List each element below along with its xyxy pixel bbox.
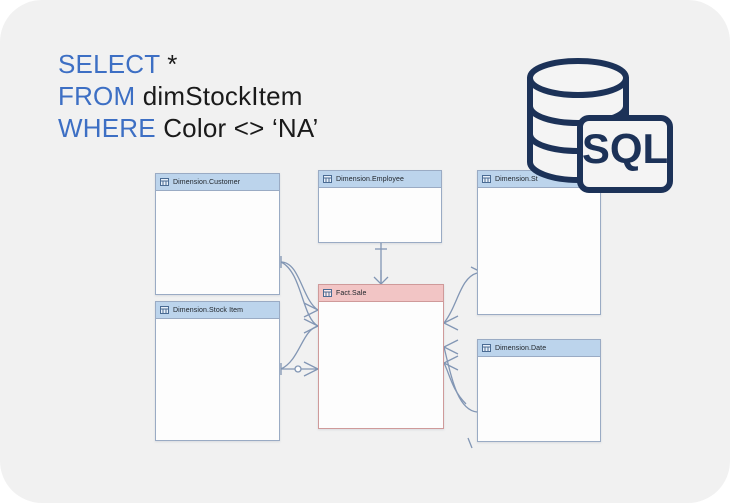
table-grid-icon [160, 178, 169, 186]
erd-table-dimension-date[interactable]: Dimension.Date [477, 339, 601, 442]
erd-table-dimension-customer[interactable]: Dimension.Customer [155, 173, 280, 295]
table-name: Fact.Sale [336, 290, 366, 297]
table-name: Dimension.Stock Item [173, 307, 243, 314]
table-header: Dimension.Stock Item [156, 302, 279, 319]
table-header: Dimension.Date [478, 340, 600, 357]
erd-table-dimension-employee[interactable]: Dimension.Employee [318, 170, 442, 243]
table-grid-icon [482, 344, 491, 352]
table-name: Dimension.Employee [336, 176, 404, 183]
sql-database-icon: SQL [514, 58, 674, 198]
table-grid-icon [482, 175, 491, 183]
table-grid-icon [160, 306, 169, 314]
sql-badge-label: SQL [582, 125, 668, 172]
table-header: Dimension.Employee [319, 171, 441, 188]
diagram-canvas: SELECT * FROM dimStockItem WHERE Color <… [0, 0, 730, 503]
erd-table-fact-sale[interactable]: Fact.Sale [318, 284, 444, 429]
table-name: Dimension.Date [495, 345, 546, 352]
table-grid-icon [323, 175, 332, 183]
table-header: Dimension.Customer [156, 174, 279, 191]
table-header: Fact.Sale [319, 285, 443, 302]
table-name: Dimension.Customer [173, 179, 240, 186]
table-grid-icon [323, 289, 332, 297]
erd-table-dimension-stock-item[interactable]: Dimension.Stock Item [155, 301, 280, 441]
